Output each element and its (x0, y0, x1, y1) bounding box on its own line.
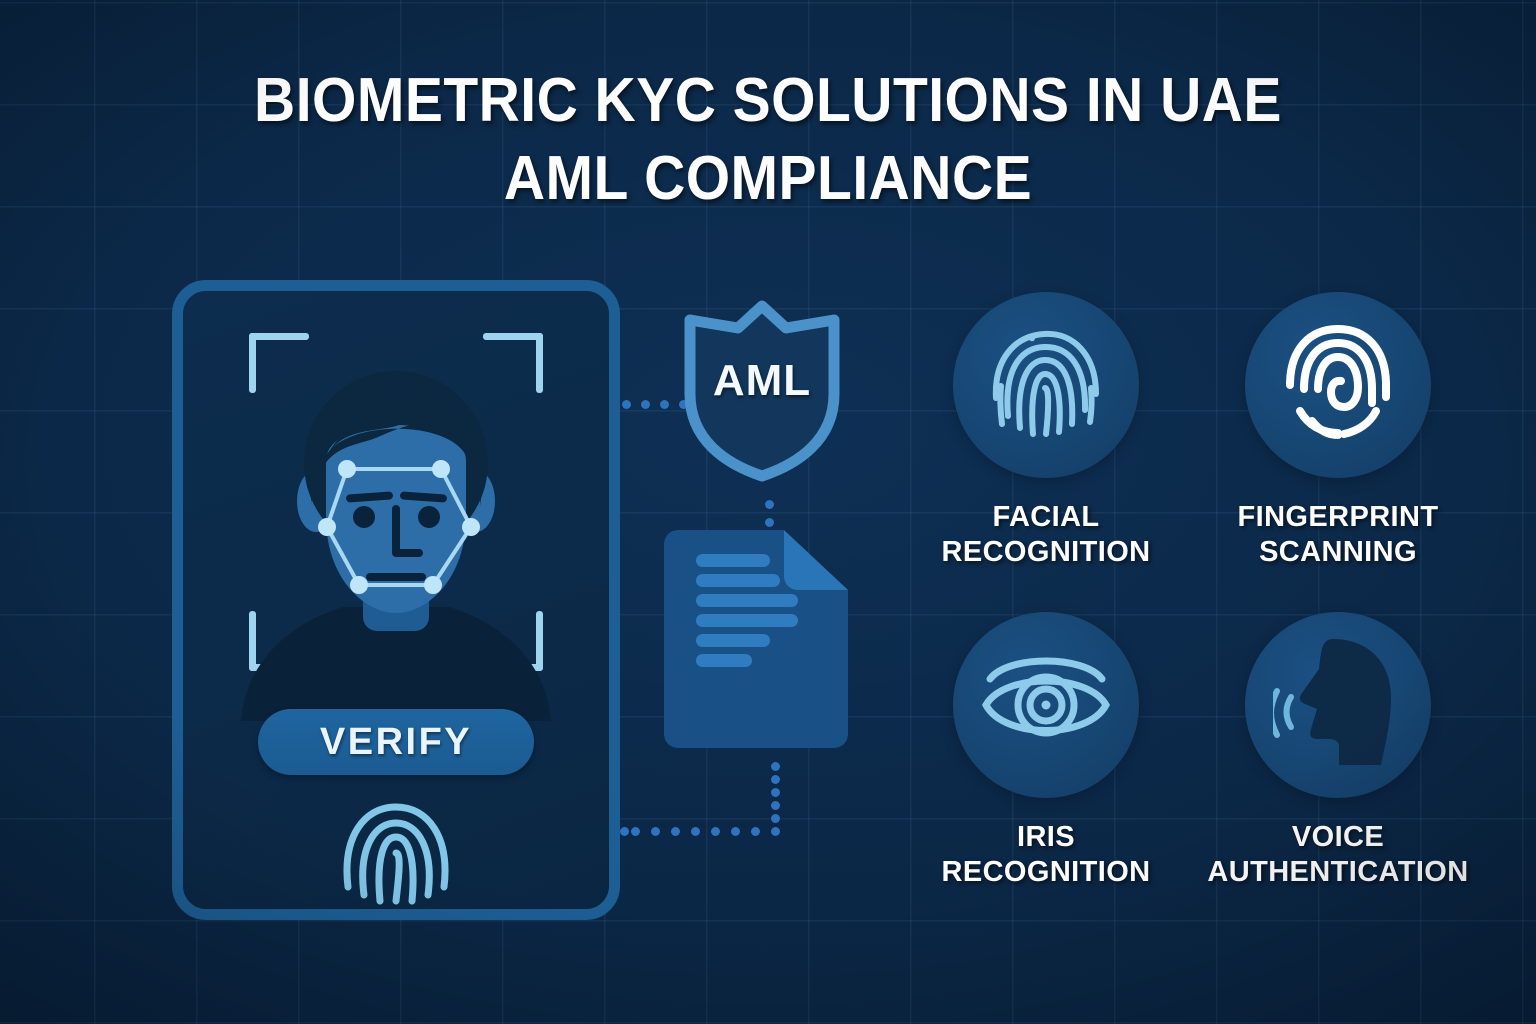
feature-label-line-2: SCANNING (1188, 535, 1488, 570)
feature-label-line-2: RECOGNITION (896, 535, 1196, 570)
feature-label-line-1: IRIS (896, 820, 1196, 855)
dotted-connector-card-to-shield (622, 400, 682, 412)
fingerprint-icon (336, 791, 456, 912)
page-title: BIOMETRIC KYC SOLUTIONS IN UAE AML COMPL… (61, 62, 1474, 218)
aml-shield: AML (676, 298, 848, 487)
aml-shield-label: AML (676, 356, 848, 406)
fingerprint-spiral-icon (1282, 323, 1394, 448)
feature-label-line-1: FACIAL (896, 500, 1196, 535)
feature-voice-authentication[interactable]: VOICE AUTHENTICATION (1188, 612, 1488, 890)
feature-label-line-2: RECOGNITION (896, 855, 1196, 890)
feature-label: VOICE AUTHENTICATION (1188, 820, 1488, 890)
feature-label-line-2: AUTHENTICATION (1188, 855, 1488, 890)
verify-button[interactable]: VERIFY (258, 709, 534, 775)
identity-verification-card[interactable]: VERIFY (172, 280, 620, 920)
speaking-head-icon (1273, 635, 1403, 776)
feature-label: IRIS RECOGNITION (896, 820, 1196, 890)
person-avatar (183, 321, 609, 721)
voice-authentication-icon-badge (1245, 612, 1431, 798)
feature-label-line-1: VOICE (1188, 820, 1488, 855)
title-line-2: AML COMPLIANCE (61, 140, 1474, 218)
feature-label: FACIAL RECOGNITION (896, 500, 1196, 570)
iris-recognition-icon-badge (953, 612, 1139, 798)
document-icon (656, 528, 856, 755)
feature-label-line-1: FINGERPRINT (1188, 500, 1488, 535)
feature-fingerprint-scanning[interactable]: FINGERPRINT SCANNING (1188, 292, 1488, 570)
eye-iris-icon (980, 647, 1112, 764)
feature-iris-recognition[interactable]: IRIS RECOGNITION (896, 612, 1196, 890)
dotted-connector-shield-to-document (765, 500, 777, 530)
fingerprint-scanning-icon-badge (1245, 292, 1431, 478)
feature-facial-recognition[interactable]: FACIAL RECOGNITION (896, 292, 1196, 570)
fingerprint-ridges-icon (986, 324, 1106, 447)
infographic-canvas: BIOMETRIC KYC SOLUTIONS IN UAE AML COMPL… (0, 0, 1536, 1024)
feature-label: FINGERPRINT SCANNING (1188, 500, 1488, 570)
facial-recognition-icon-badge (953, 292, 1139, 478)
title-line-1: BIOMETRIC KYC SOLUTIONS IN UAE (254, 66, 1282, 135)
dotted-connector-document-to-card (620, 762, 780, 838)
